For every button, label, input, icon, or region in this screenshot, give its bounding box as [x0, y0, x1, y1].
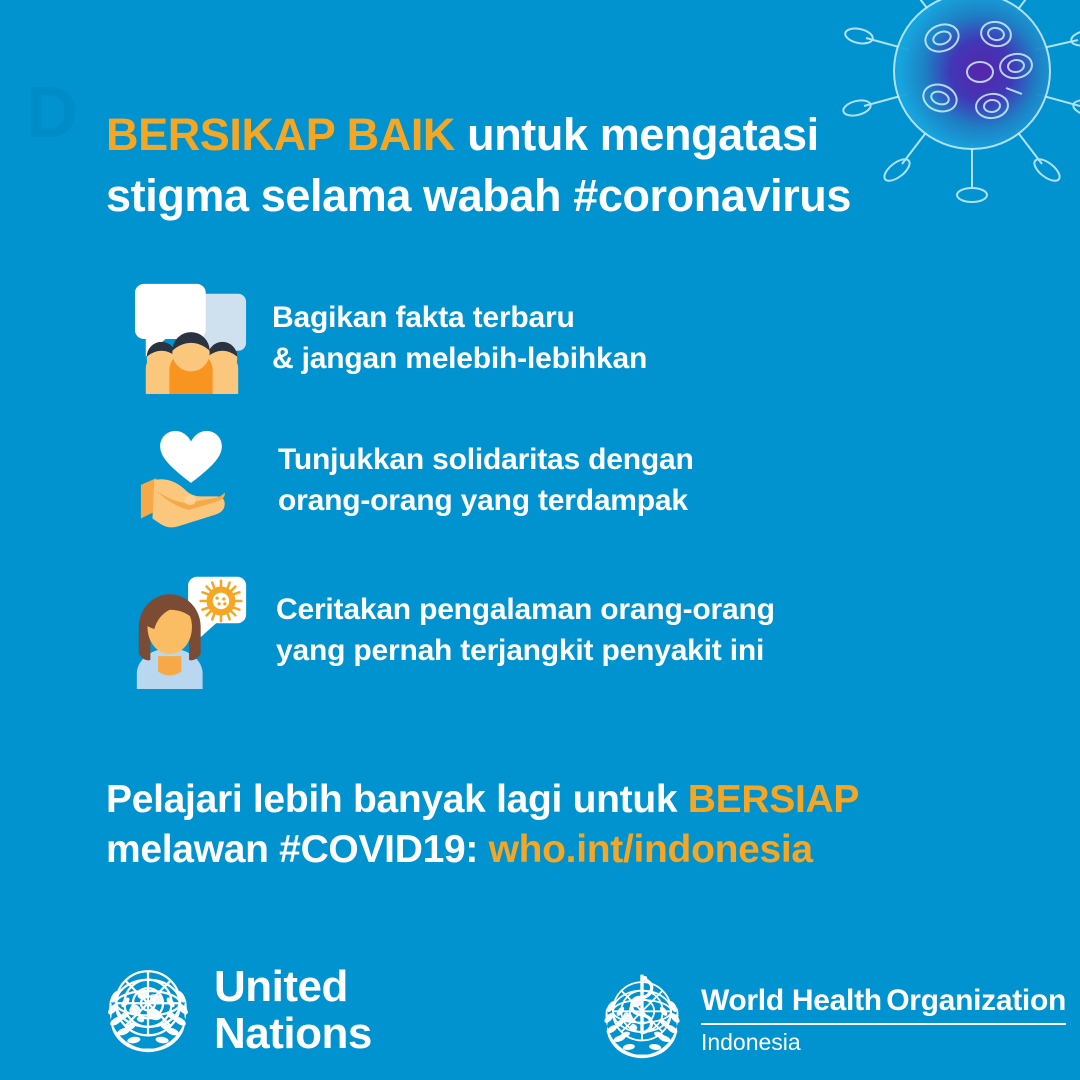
- cta-url-link[interactable]: who.int/indonesia: [489, 828, 813, 871]
- cta-line2-prefix: melawan #COVID19:: [106, 828, 489, 871]
- heart-in-hand-icon: [122, 421, 260, 539]
- who-wordmark-line2: Organization: [886, 984, 1066, 1017]
- un-wordmark-line1: United: [214, 962, 348, 1011]
- list-item-text: Tunjukkan solidaritas dengan orang-orang…: [260, 439, 694, 521]
- list-item-text: Bagikan fakta terbaru & jangan melebih-l…: [260, 297, 647, 379]
- list-item: Tunjukkan solidaritas dengan orang-orang…: [122, 420, 972, 540]
- who-emblem-icon: [593, 969, 691, 1068]
- speech-bubbles-people-icon: [122, 279, 260, 397]
- bullet-2-line-2: orang-orang yang terdampak: [278, 480, 694, 521]
- headline-rest-line1: untuk mengatasi: [455, 109, 819, 160]
- advice-list: Bagikan fakta terbaru & jangan melebih-l…: [122, 278, 972, 708]
- person-virus-speech-icon: [122, 571, 260, 689]
- who-wordmark: World Health Organization Indonesia: [701, 969, 1066, 1056]
- who-logo: World Health Organization Indonesia: [593, 969, 1066, 1068]
- bullet-2-line-1: Tunjukkan solidaritas dengan: [278, 443, 694, 476]
- un-wordmark-line2: Nations: [214, 1009, 372, 1058]
- bullet-1-line-2: & jangan melebih-lebihkan: [272, 338, 647, 379]
- bullet-3-line-2: yang pernah terjangkit penyakit ini: [276, 630, 775, 671]
- list-item: Ceritakan pengalaman orang-orang yang pe…: [122, 570, 972, 690]
- who-country-label: Indonesia: [701, 1029, 801, 1055]
- cta-line1-accent: BERSIAP: [688, 778, 859, 821]
- poster-canvas: D: [0, 0, 1080, 1080]
- headline-accent: BERSIKAP BAIK: [106, 109, 455, 160]
- list-item: Bagikan fakta terbaru & jangan melebih-l…: [122, 278, 972, 398]
- background-watermark: D: [26, 72, 80, 154]
- cta-line1-prefix: Pelajari lebih banyak lagi untuk: [106, 778, 688, 821]
- who-divider: [701, 1023, 1066, 1025]
- headline-line2: stigma selama wabah #coronavirus: [106, 170, 851, 221]
- bullet-1-line-1: Bagikan fakta terbaru: [272, 301, 575, 334]
- who-wordmark-line1: World Health: [701, 984, 882, 1017]
- call-to-action: Pelajari lebih banyak lagi untuk BERSIAP…: [106, 775, 1006, 875]
- list-item-text: Ceritakan pengalaman orang-orang yang pe…: [260, 589, 775, 671]
- un-emblem-icon: [96, 959, 200, 1062]
- un-wordmark: United Nations: [214, 964, 372, 1056]
- page-title: BERSIKAP BAIK untuk mengatasi stigma sel…: [106, 105, 966, 227]
- united-nations-logo: United Nations: [96, 959, 372, 1062]
- bullet-3-line-1: Ceritakan pengalaman orang-orang: [276, 593, 775, 626]
